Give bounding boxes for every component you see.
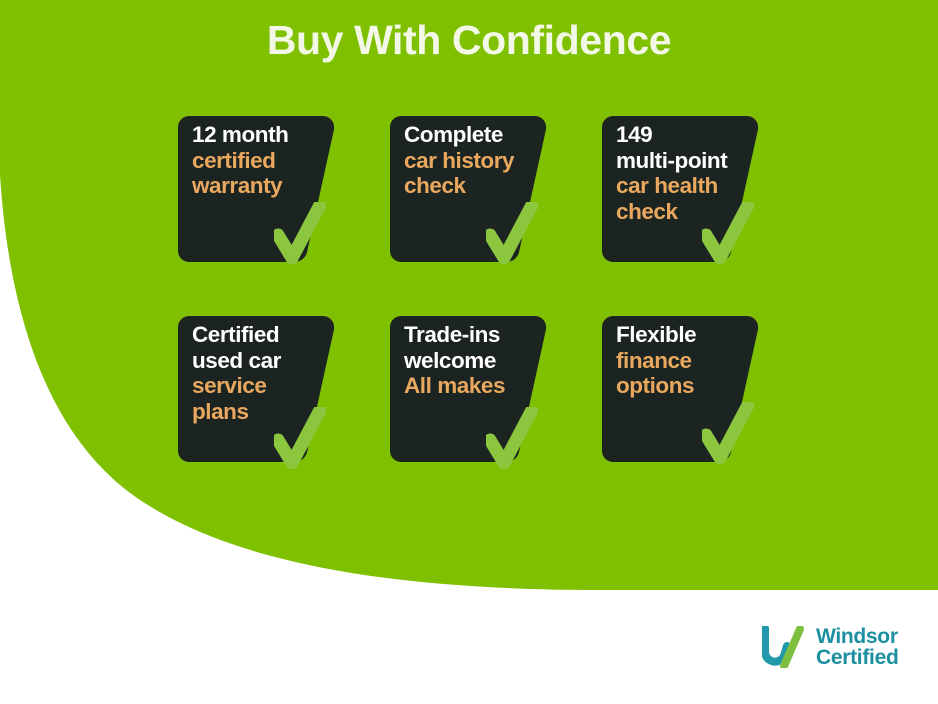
brand-line-windsor: Windsor [816,626,898,647]
card-tag-shape [390,116,546,262]
card-background-shape [390,310,547,468]
card-tag-shape [602,316,758,462]
benefit-card-car-history-check[interactable]: Complete car history check [390,110,547,268]
brand-logo[interactable]: Windsor Certified [762,626,898,669]
card-background-shape [602,110,759,268]
card-tag-shape [178,316,334,462]
w-left-stroke [765,628,787,662]
benefit-card-certified-warranty[interactable]: 12 month certified warranty [178,110,335,268]
brand-wordmark: Windsor Certified [816,626,898,669]
card-tag-shape [602,116,758,262]
benefit-card-service-plans[interactable]: Certified used car service plans [178,310,335,468]
card-background-shape [178,310,335,468]
page-title: Buy With Confidence [0,16,938,65]
benefit-card-flexible-finance[interactable]: Flexible finance options [602,310,759,468]
card-background-shape [178,110,335,268]
card-background-shape [390,110,547,268]
card-tag-shape [178,116,334,262]
benefit-card-grid: 12 month certified warranty Complete car… [178,110,758,510]
benefit-card-trade-ins-welcome[interactable]: Trade-ins welcome All makes [390,310,547,468]
benefit-card-multi-point-health-check[interactable]: 149 multi-point car health check [602,110,759,268]
card-row-2: Certified used car service plans Trade-i… [178,310,758,468]
windsor-w-icon [762,626,807,668]
card-background-shape [602,310,759,468]
brand-line-certified: Certified [816,647,898,668]
card-tag-shape [390,316,546,462]
card-row-1: 12 month certified warranty Complete car… [178,110,758,268]
